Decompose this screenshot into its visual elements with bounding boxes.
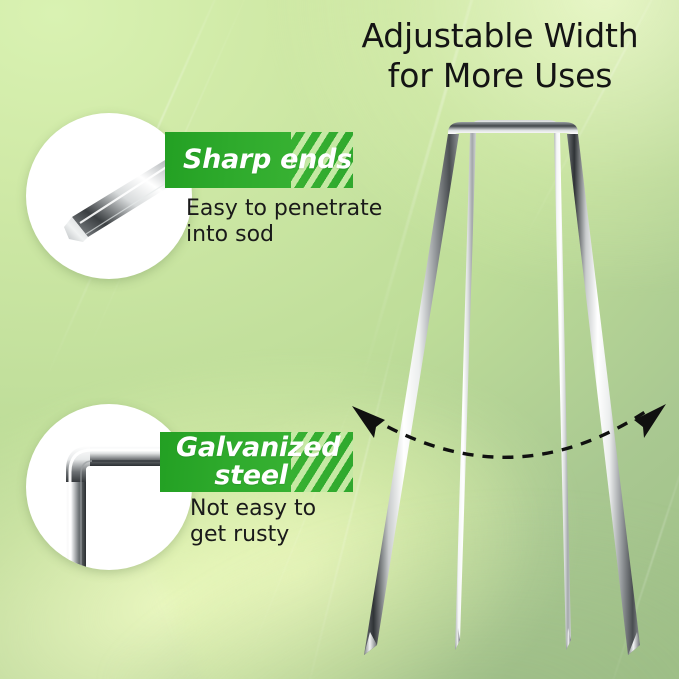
arrowhead-left-icon — [352, 406, 385, 438]
sharp-ends-subtext: Easy to penetrate into sod — [186, 196, 396, 248]
arrowhead-right-icon — [634, 404, 666, 438]
galvanized-steel-banner: Galvanized steel — [160, 432, 353, 492]
adjustable-width-arrow — [0, 0, 679, 679]
sharp-ends-banner: Sharp ends — [165, 132, 353, 188]
page-title: Adjustable Width for More Uses — [335, 16, 665, 97]
product-infographic: Adjustable Width for More Uses — [0, 0, 679, 679]
galvanized-steel-subtext: Not easy to get rusty — [190, 496, 400, 548]
dashed-arc — [370, 412, 645, 457]
sharp-ends-banner-label: Sharp ends — [183, 146, 352, 174]
galvanized-steel-banner-label: Galvanized steel — [176, 434, 326, 490]
